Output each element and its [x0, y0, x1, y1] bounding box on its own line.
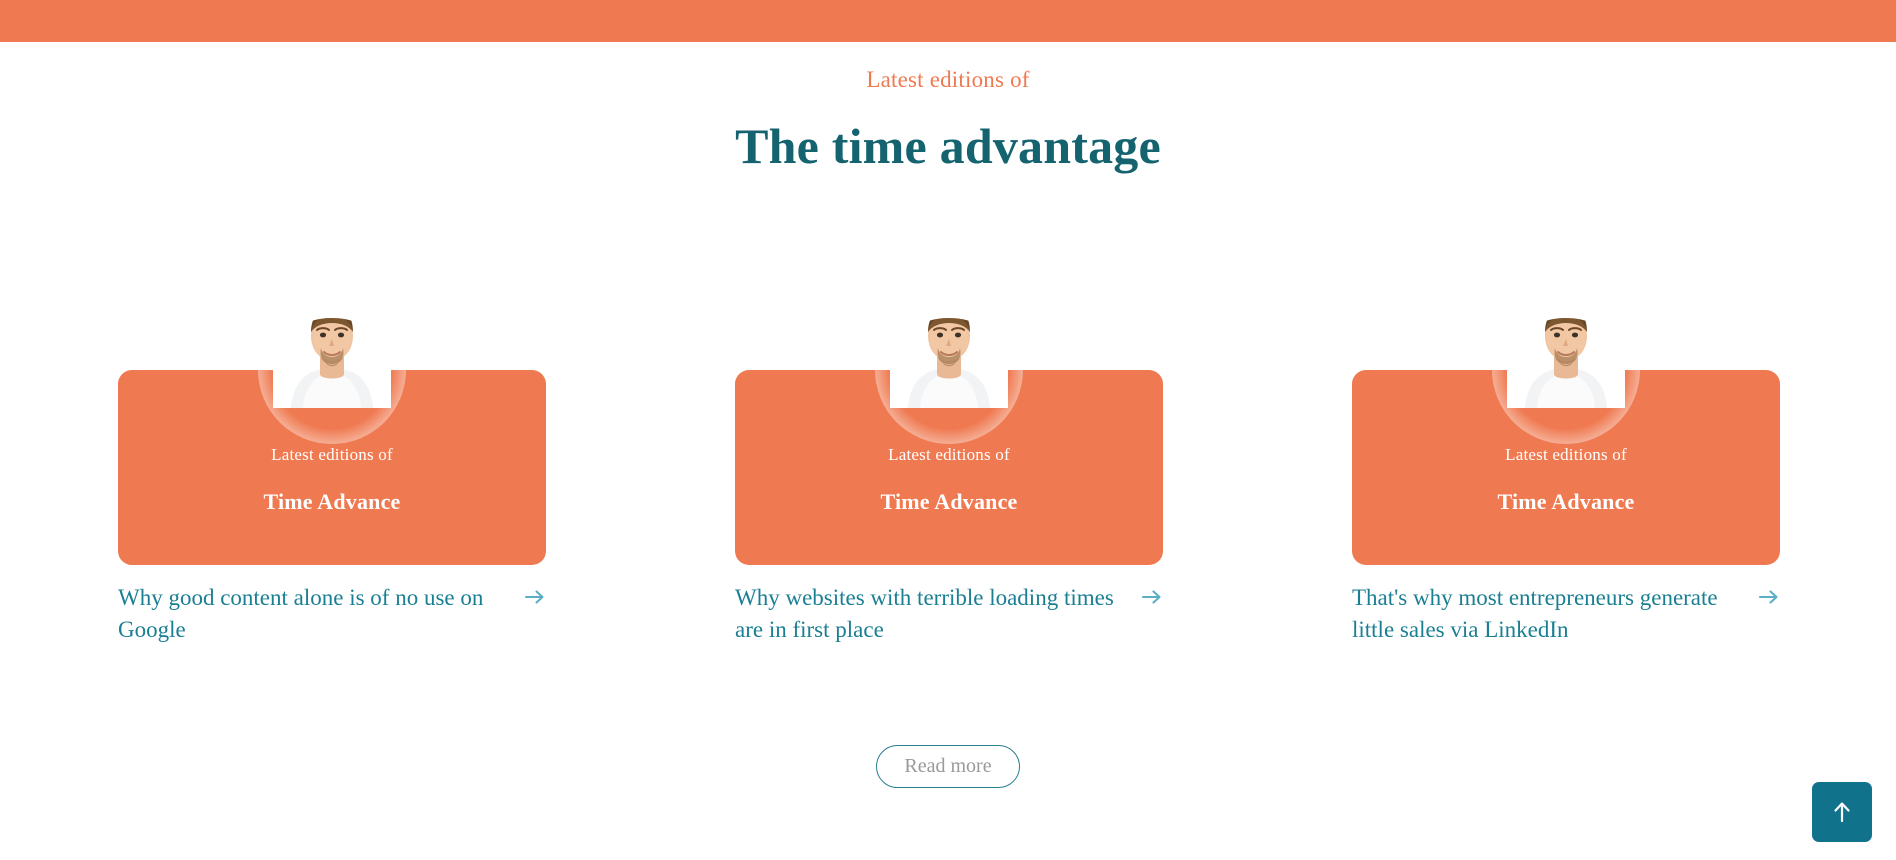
card-content: Latest editions of Time Advance [118, 370, 546, 513]
card-link-label: That's why most entrepreneurs generate l… [1352, 582, 1748, 645]
arrow-right-icon [1141, 589, 1163, 605]
page-title: The time advantage [0, 121, 1896, 171]
card-title: Time Advance [1352, 491, 1780, 513]
section-eyebrow: Latest editions of [0, 68, 1896, 91]
card-eyebrow: Latest editions of [1352, 446, 1780, 463]
card-link-label: Why good content alone is of no use on G… [118, 582, 514, 645]
card-link-label: Why websites with terrible loading times… [735, 582, 1131, 645]
section-header: Latest editions of The time advantage [0, 42, 1896, 171]
arrow-right-icon [524, 589, 546, 605]
newsletter-card[interactable]: Latest editions of Time Advance [118, 370, 546, 565]
newsletter-card[interactable]: Latest editions of Time Advance [735, 370, 1163, 565]
scroll-to-top-button[interactable] [1812, 782, 1872, 842]
card-content: Latest editions of Time Advance [1352, 370, 1780, 513]
card-eyebrow: Latest editions of [735, 446, 1163, 463]
page-root: Latest editions of The time advantage [0, 0, 1896, 860]
card-article-link[interactable]: Why websites with terrible loading times… [735, 582, 1163, 645]
cards-row: Latest editions of Time Advance Why good… [118, 288, 1780, 598]
newsletter-card[interactable]: Latest editions of Time Advance [1352, 370, 1780, 565]
top-accent-bar [0, 0, 1896, 42]
card-content: Latest editions of Time Advance [735, 370, 1163, 513]
card-column-2: Latest editions of Time Advance Why webs… [735, 288, 1163, 598]
card-column-1: Latest editions of Time Advance Why good… [118, 288, 546, 598]
read-more-container: Read more [0, 745, 1896, 788]
card-article-link[interactable]: Why good content alone is of no use on G… [118, 582, 546, 645]
arrow-up-icon [1831, 800, 1853, 824]
card-column-3: Latest editions of Time Advance That's w… [1352, 288, 1780, 598]
arrow-right-icon [1758, 589, 1780, 605]
card-article-link[interactable]: That's why most entrepreneurs generate l… [1352, 582, 1780, 645]
card-title: Time Advance [118, 491, 546, 513]
card-eyebrow: Latest editions of [118, 446, 546, 463]
card-title: Time Advance [735, 491, 1163, 513]
read-more-button[interactable]: Read more [876, 745, 1019, 788]
